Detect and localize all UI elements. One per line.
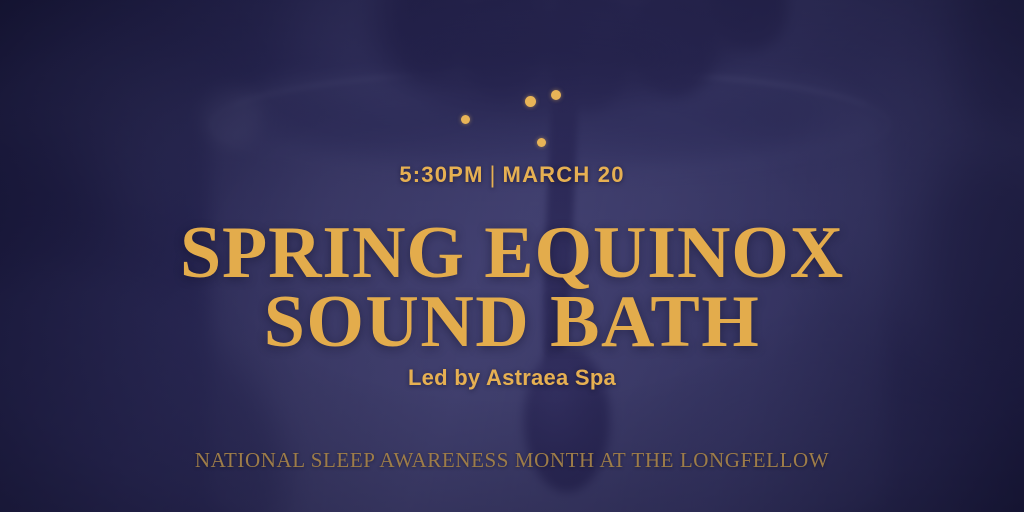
event-date: MARCH 20 <box>503 162 625 187</box>
headline-line-1: SPRING EQUINOX <box>0 219 1024 288</box>
poster-content: 5:30PM|MARCH 20 SPRING EQUINOX SOUND BAT… <box>0 0 1024 512</box>
datetime-separator: | <box>490 161 497 188</box>
page-title: SPRING EQUINOX SOUND BATH <box>0 219 1024 357</box>
event-footer-note: NATIONAL SLEEP AWARENESS MONTH AT THE LO… <box>0 448 1024 473</box>
event-poster: 5:30PM|MARCH 20 SPRING EQUINOX SOUND BAT… <box>0 0 1024 512</box>
event-datetime: 5:30PM|MARCH 20 <box>0 162 1024 188</box>
event-time: 5:30PM <box>399 162 483 187</box>
headline-line-2: SOUND BATH <box>0 288 1024 357</box>
event-host: Led by Astraea Spa <box>0 365 1024 391</box>
